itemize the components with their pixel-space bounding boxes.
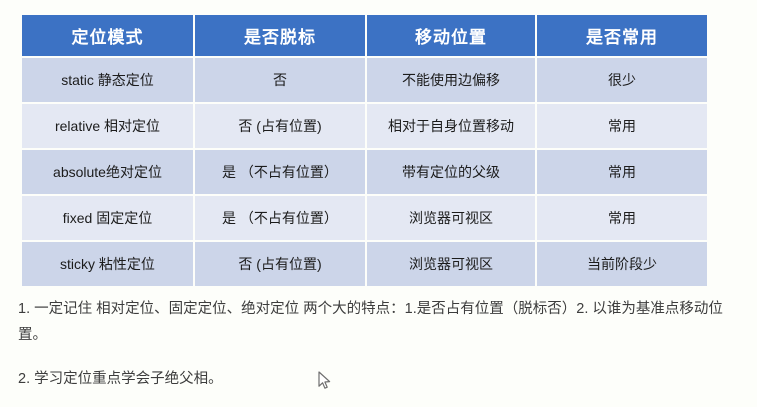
cell-move-reference-sticky: 浏览器可视区: [367, 242, 535, 286]
cell-common-usage-fixed: 常用: [537, 196, 707, 240]
cell-mode-relative: relative 相对定位: [22, 104, 193, 148]
positioning-modes-table-wrapper: 定位模式 是否脱标 移动位置 是否常用 static 静态定位 否 不能使用边偏…: [20, 13, 707, 288]
cell-mode-absolute: absolute绝对定位: [22, 150, 193, 194]
table-header-row: 定位模式 是否脱标 移动位置 是否常用: [22, 15, 707, 56]
table-body: static 静态定位 否 不能使用边偏移 很少 relative 相对定位 否…: [22, 58, 707, 286]
cell-common-usage-static: 很少: [537, 58, 707, 102]
table-header: 定位模式 是否脱标 移动位置 是否常用: [22, 15, 707, 56]
positioning-modes-table: 定位模式 是否脱标 移动位置 是否常用 static 静态定位 否 不能使用边偏…: [20, 13, 709, 288]
column-header-out-of-flow: 是否脱标: [195, 15, 365, 56]
table-row: fixed 固定定位 是 （不占有位置） 浏览器可视区 常用: [22, 196, 707, 240]
note-line-1: 1. 一定记住 相对定位、固定定位、绝对定位 两个大的特点：1.是否占有位置（脱…: [18, 296, 734, 348]
cell-move-reference-fixed: 浏览器可视区: [367, 196, 535, 240]
cell-common-usage-relative: 常用: [537, 104, 707, 148]
cell-common-usage-absolute: 常用: [537, 150, 707, 194]
cell-mode-fixed: fixed 固定定位: [22, 196, 193, 240]
cell-mode-sticky: sticky 粘性定位: [22, 242, 193, 286]
note-spacer: [18, 348, 734, 366]
cell-mode-static: static 静态定位: [22, 58, 193, 102]
table-row: static 静态定位 否 不能使用边偏移 很少: [22, 58, 707, 102]
column-header-move-reference: 移动位置: [367, 15, 535, 56]
cell-out-of-flow-relative: 否 (占有位置): [195, 104, 365, 148]
table-row: absolute绝对定位 是 （不占有位置） 带有定位的父级 常用: [22, 150, 707, 194]
table-row: sticky 粘性定位 否 (占有位置) 浏览器可视区 当前阶段少: [22, 242, 707, 286]
cell-out-of-flow-static: 否: [195, 58, 365, 102]
column-header-common-usage: 是否常用: [537, 15, 707, 56]
cell-out-of-flow-absolute: 是 （不占有位置）: [195, 150, 365, 194]
cell-move-reference-static: 不能使用边偏移: [367, 58, 535, 102]
cell-common-usage-sticky: 当前阶段少: [537, 242, 707, 286]
column-header-position-mode: 定位模式: [22, 15, 193, 56]
notes-section: 1. 一定记住 相对定位、固定定位、绝对定位 两个大的特点：1.是否占有位置（脱…: [18, 296, 734, 392]
cell-move-reference-absolute: 带有定位的父级: [367, 150, 535, 194]
cell-move-reference-relative: 相对于自身位置移动: [367, 104, 535, 148]
table-row: relative 相对定位 否 (占有位置) 相对于自身位置移动 常用: [22, 104, 707, 148]
note-line-2: 2. 学习定位重点学会子绝父相。: [18, 366, 734, 392]
cell-out-of-flow-sticky: 否 (占有位置): [195, 242, 365, 286]
cell-out-of-flow-fixed: 是 （不占有位置）: [195, 196, 365, 240]
page-root: 定位模式 是否脱标 移动位置 是否常用 static 静态定位 否 不能使用边偏…: [0, 0, 757, 407]
